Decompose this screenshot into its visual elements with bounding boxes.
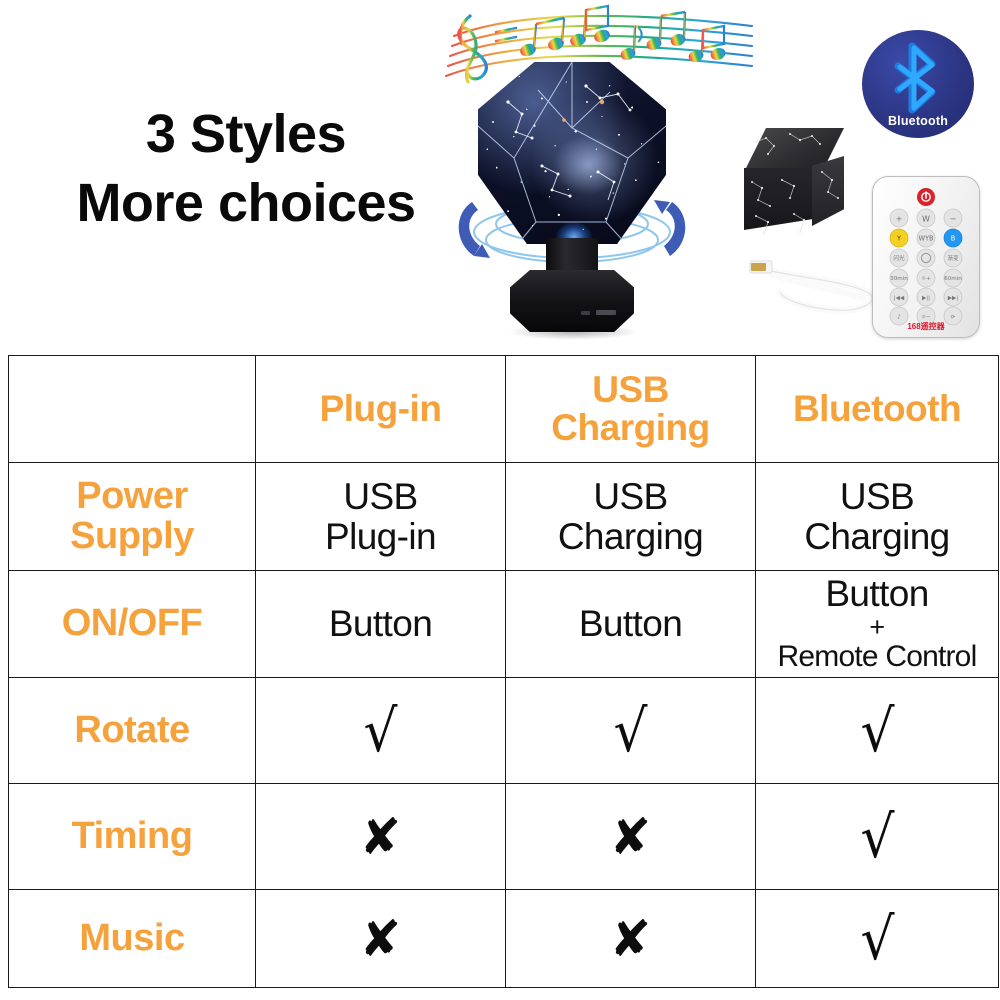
- check-icon: √: [363, 702, 397, 760]
- table-corner-cell: [9, 356, 256, 463]
- remote-model-label: 168遥控器: [872, 321, 980, 332]
- column-header-bluetooth: Bluetooth: [756, 356, 999, 463]
- bluetooth-label: Bluetooth: [862, 114, 974, 128]
- cell-onoff-usb-charging: Button: [506, 571, 756, 678]
- bluetooth-badge: Bluetooth: [862, 30, 974, 138]
- svg-text:♪: ♪: [897, 314, 901, 321]
- headline-line-1: 3 Styles: [146, 104, 346, 164]
- svg-text:W: W: [922, 215, 930, 224]
- cell-rotate-bluetooth: √: [756, 678, 999, 784]
- cell-music-bluetooth: √: [756, 890, 999, 988]
- svg-text:⟳: ⟳: [951, 315, 956, 321]
- table-header-row: Plug-in USB Charging Bluetooth: [9, 356, 999, 463]
- cross-icon: ✘: [360, 812, 402, 862]
- svg-text:☼+: ☼+: [921, 275, 931, 282]
- star-projector-lamp: [452, 62, 692, 352]
- gift-box: [738, 128, 856, 250]
- cell-timing-plug-in: ✘: [256, 784, 506, 890]
- lamp-base: [510, 270, 634, 332]
- cell-rotate-usb-charging: √: [506, 678, 756, 784]
- table-row: Rotate √ √ √: [9, 678, 999, 784]
- cross-icon: ✘: [610, 914, 652, 964]
- column-header-plug-in: Plug-in: [256, 356, 506, 463]
- constellation-pattern: [738, 128, 856, 250]
- row-label-on-off: ON/OFF: [9, 571, 256, 678]
- row-label-power-supply: Power Supply: [9, 463, 256, 571]
- svg-text:30min: 30min: [890, 276, 908, 282]
- svg-text:60min: 60min: [944, 276, 962, 282]
- svg-text:▶▶|: ▶▶|: [948, 296, 959, 302]
- svg-text:|◀◀: |◀◀: [894, 296, 905, 302]
- cell-music-plug-in: ✘: [256, 890, 506, 988]
- svg-text:☼−: ☼−: [921, 314, 931, 321]
- usb-port: [596, 310, 616, 315]
- row-label-rotate: Rotate: [9, 678, 256, 784]
- svg-text:渐变: 渐变: [947, 254, 959, 262]
- hero-banner: 3 Styles More choices: [0, 0, 1000, 356]
- check-icon: √: [860, 910, 894, 968]
- check-icon: √: [613, 702, 647, 760]
- svg-text:▶||: ▶||: [922, 296, 930, 302]
- check-icon: √: [860, 808, 894, 866]
- table-row: Power Supply USB Plug-in USB Charging US…: [9, 463, 999, 571]
- cell-onoff-bluetooth: Button + Remote Control: [756, 571, 999, 678]
- svg-text:−: −: [950, 215, 957, 224]
- cell-power-usb-charging: USB Charging: [506, 463, 756, 571]
- cell-power-bluetooth: USB Charging: [756, 463, 999, 571]
- svg-text:闪光: 闪光: [893, 254, 905, 262]
- remote-control: +W− Y WYB B 闪光渐变 30min☼+60min |◀◀▶||▶▶|: [872, 176, 980, 338]
- row-label-music: Music: [9, 890, 256, 988]
- cell-rotate-plug-in: √: [256, 678, 506, 784]
- column-header-usb-charging: USB Charging: [506, 356, 756, 463]
- row-label-timing: Timing: [9, 784, 256, 890]
- comparison-table-container: Plug-in USB Charging Bluetooth Power Sup…: [8, 355, 998, 987]
- table-row: ON/OFF Button Button Button + Remote Con…: [9, 571, 999, 678]
- table-row: Timing ✘ ✘ √: [9, 784, 999, 890]
- power-button: [581, 311, 590, 315]
- svg-text:WYB: WYB: [918, 235, 934, 243]
- check-icon: √: [860, 702, 894, 760]
- comparison-table: Plug-in USB Charging Bluetooth Power Sup…: [8, 355, 999, 988]
- svg-text:+: +: [896, 215, 903, 224]
- svg-text:B: B: [951, 235, 956, 243]
- cross-icon: ✘: [610, 812, 652, 862]
- cell-timing-usb-charging: ✘: [506, 784, 756, 890]
- usb-cable: [742, 248, 884, 334]
- cross-icon: ✘: [360, 914, 402, 964]
- table-row: Music ✘ ✘ √: [9, 890, 999, 988]
- cell-onoff-plug-in: Button: [256, 571, 506, 678]
- page-title: 3 Styles More choices: [46, 100, 446, 238]
- lamp-shadow: [508, 324, 638, 340]
- cell-power-plug-in: USB Plug-in: [256, 463, 506, 571]
- cell-music-usb-charging: ✘: [506, 890, 756, 988]
- headline-line-2: More choices: [46, 169, 446, 238]
- cell-timing-bluetooth: √: [756, 784, 999, 890]
